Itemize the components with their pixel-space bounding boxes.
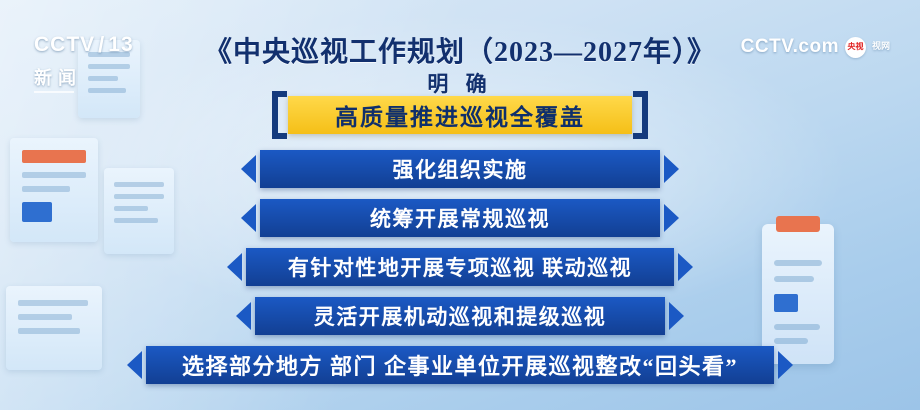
chevron-left-icon [678,253,693,281]
list-item: 统筹开展常规巡视 [0,199,920,237]
list-item-label: 统筹开展常规巡视 [370,203,550,233]
list-item-bar: 灵活开展机动巡视和提级巡视 [255,297,665,335]
list-item-bar: 选择部分地方 部门 企事业单位开展巡视整改“回头看” [146,346,774,384]
headline-label: 高质量推进巡视全覆盖 [335,98,585,132]
page-subtitle: 明 确 [0,68,920,98]
list-item-bar: 有针对性地开展专项巡视 联动巡视 [246,248,674,286]
list-item: 灵活开展机动巡视和提级巡视 [0,297,920,335]
bracket-right-icon [633,91,648,139]
broadcast-graphic: CCTV / 13 新闻 CCTV.com 央视 视网 《中央巡视工作规划（20… [0,0,920,410]
chevron-left-icon [778,351,793,379]
list-item: 选择部分地方 部门 企事业单位开展巡视整改“回头看” [0,346,920,384]
list-item-label: 选择部分地方 部门 企事业单位开展巡视整改“回头看” [182,349,738,381]
chevron-right-icon [127,351,142,379]
chevron-left-icon [669,302,684,330]
list-item-label: 强化组织实施 [393,154,528,184]
headline-banner: 高质量推进巡视全覆盖 [288,96,632,134]
chevron-right-icon [241,155,256,183]
chevron-left-icon [664,155,679,183]
headline-row: 高质量推进巡视全覆盖 [0,96,920,134]
chevron-left-icon [664,204,679,232]
list-item: 强化组织实施 [0,150,920,188]
chevron-right-icon [236,302,251,330]
list-item-bar: 强化组织实施 [260,150,660,188]
list-item-label: 灵活开展机动巡视和提级巡视 [314,301,607,331]
list-item: 有针对性地开展专项巡视 联动巡视 [0,248,920,286]
list-item-label: 有针对性地开展专项巡视 联动巡视 [288,252,632,282]
page-title: 《中央巡视工作规划（2023—2027年）》 [0,30,920,70]
bracket-left-icon [272,91,287,139]
list-item-bar: 统筹开展常规巡视 [260,199,660,237]
chevron-right-icon [227,253,242,281]
bullet-list: 强化组织实施 统筹开展常规巡视 有针对性地开展专项巡视 联动巡视 灵活开展机动巡… [0,150,920,395]
chevron-right-icon [241,204,256,232]
